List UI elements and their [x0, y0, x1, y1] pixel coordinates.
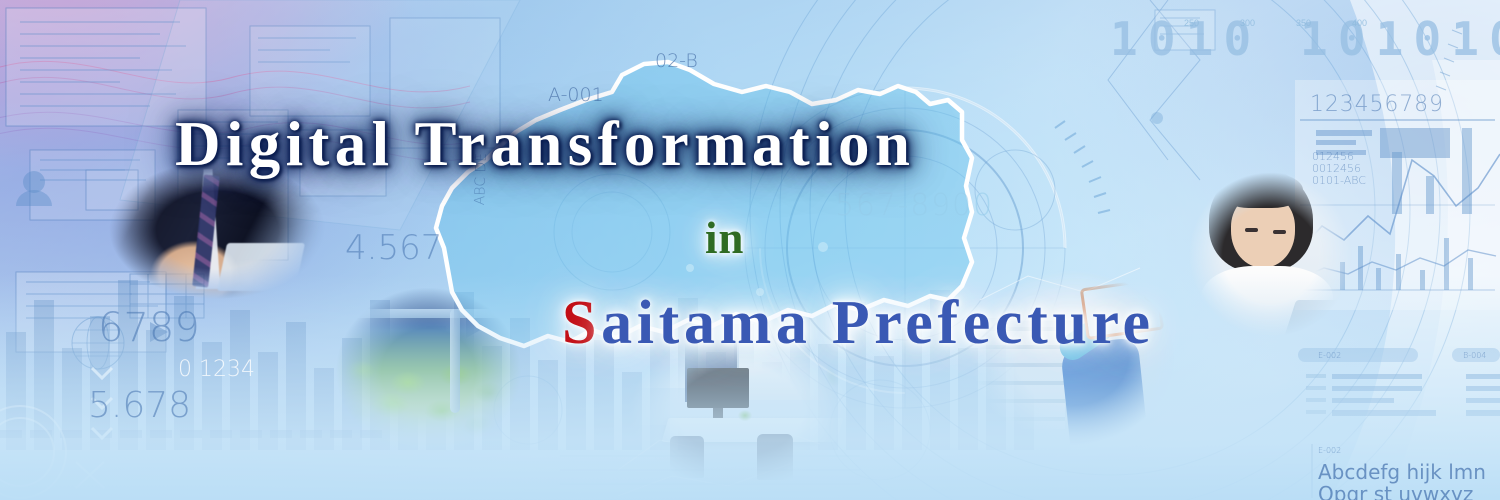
dx-banner: 4.567 6789 5.678 0 1234 123456789 012456…: [0, 0, 1500, 500]
title-connector-in: in: [705, 216, 744, 261]
title-digital-transformation: Digital Transformation: [175, 113, 915, 176]
title-initial-s: S: [562, 289, 601, 357]
title-saitama-rest: aitama Prefecture: [601, 289, 1155, 357]
title-saitama-prefecture: Saitama Prefecture: [562, 292, 1155, 354]
headline-group: Digital Transformation in Saitama Prefec…: [0, 0, 1500, 500]
